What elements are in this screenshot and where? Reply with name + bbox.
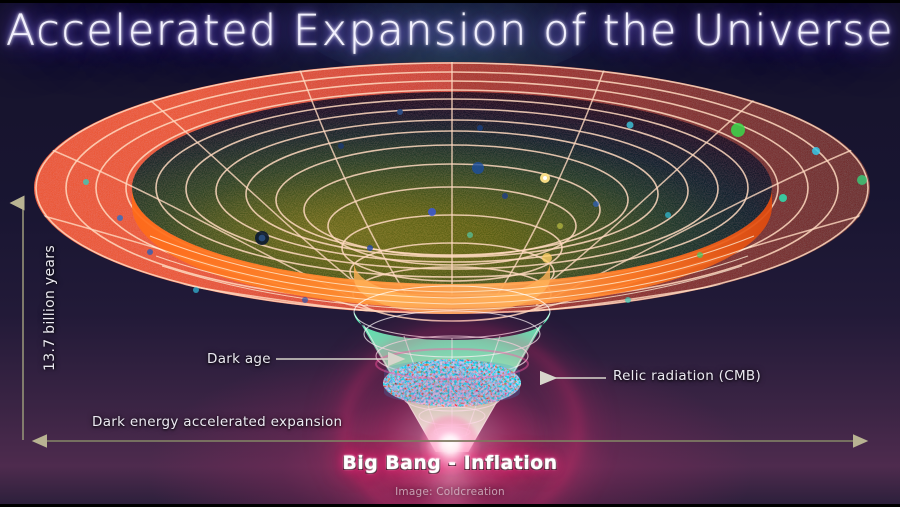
top-border-bar [0,0,900,3]
dark-age-label: Dark age [207,351,271,367]
universe-expansion-figure: Accelerated Expansion of the Universe [0,0,900,507]
image-credit: Image: Coldcreation [0,486,900,498]
dark-energy-label: Dark energy accelerated expansion [92,414,342,430]
big-bang-label: Big Bang - Inflation [0,452,900,474]
annotation-arrows [0,0,900,507]
time-axis-label: 13.7 billion years [42,228,58,388]
cmb-label: Relic radiation (CMB) [613,368,761,384]
